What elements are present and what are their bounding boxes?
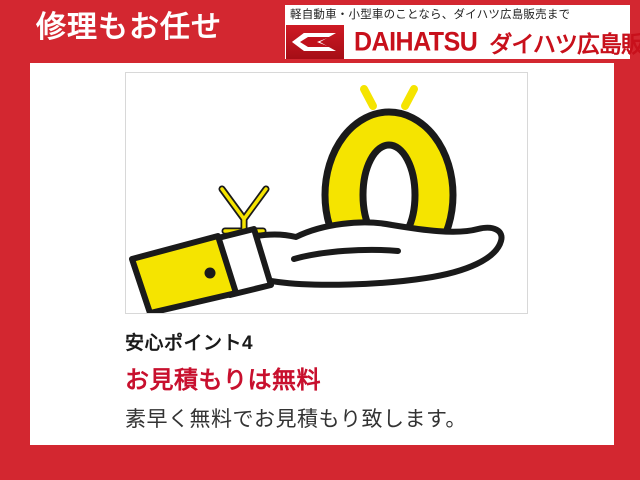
advertisement-slide: 修理もお任せ 軽自動車・小型車のことなら、ダイハツ広島販売まで DAIHATSU…: [0, 0, 640, 480]
zero-yen-hand-illustration: [126, 73, 527, 313]
dealer-name: ダイハツ広島販売: [489, 25, 640, 59]
logo-row: DAIHATSU ダイハツ広島販売: [286, 25, 631, 59]
illustration-frame: [125, 72, 528, 314]
header-banner: 修理もお任せ 軽自動車・小型車のことなら、ダイハツ広島販売まで DAIHATSU…: [0, 0, 640, 63]
content-card: 安心ポイント4 お見積もりは無料 素早く無料でお見積もり致します。: [30, 63, 614, 445]
caption-description: 素早く無料でお見積もり致します。: [125, 403, 467, 433]
logo-wordmark: DAIHATSU: [354, 27, 477, 58]
brand-block: 軽自動車・小型車のことなら、ダイハツ広島販売まで DAIHATSU ダイハツ広島…: [285, 5, 630, 59]
point-label: 安心ポイント4: [125, 328, 253, 355]
page-title: 修理もお任せ: [36, 9, 222, 47]
sparkle-icon: [364, 89, 414, 106]
sleeve-button-dot: [205, 268, 216, 279]
brand-tagline: 軽自動車・小型車のことなら、ダイハツ広島販売まで: [290, 7, 570, 24]
caption-headline: お見積もりは無料: [125, 360, 321, 395]
open-palm-hand-icon: [132, 222, 502, 313]
daihatsu-d-emblem-icon: [286, 25, 344, 59]
